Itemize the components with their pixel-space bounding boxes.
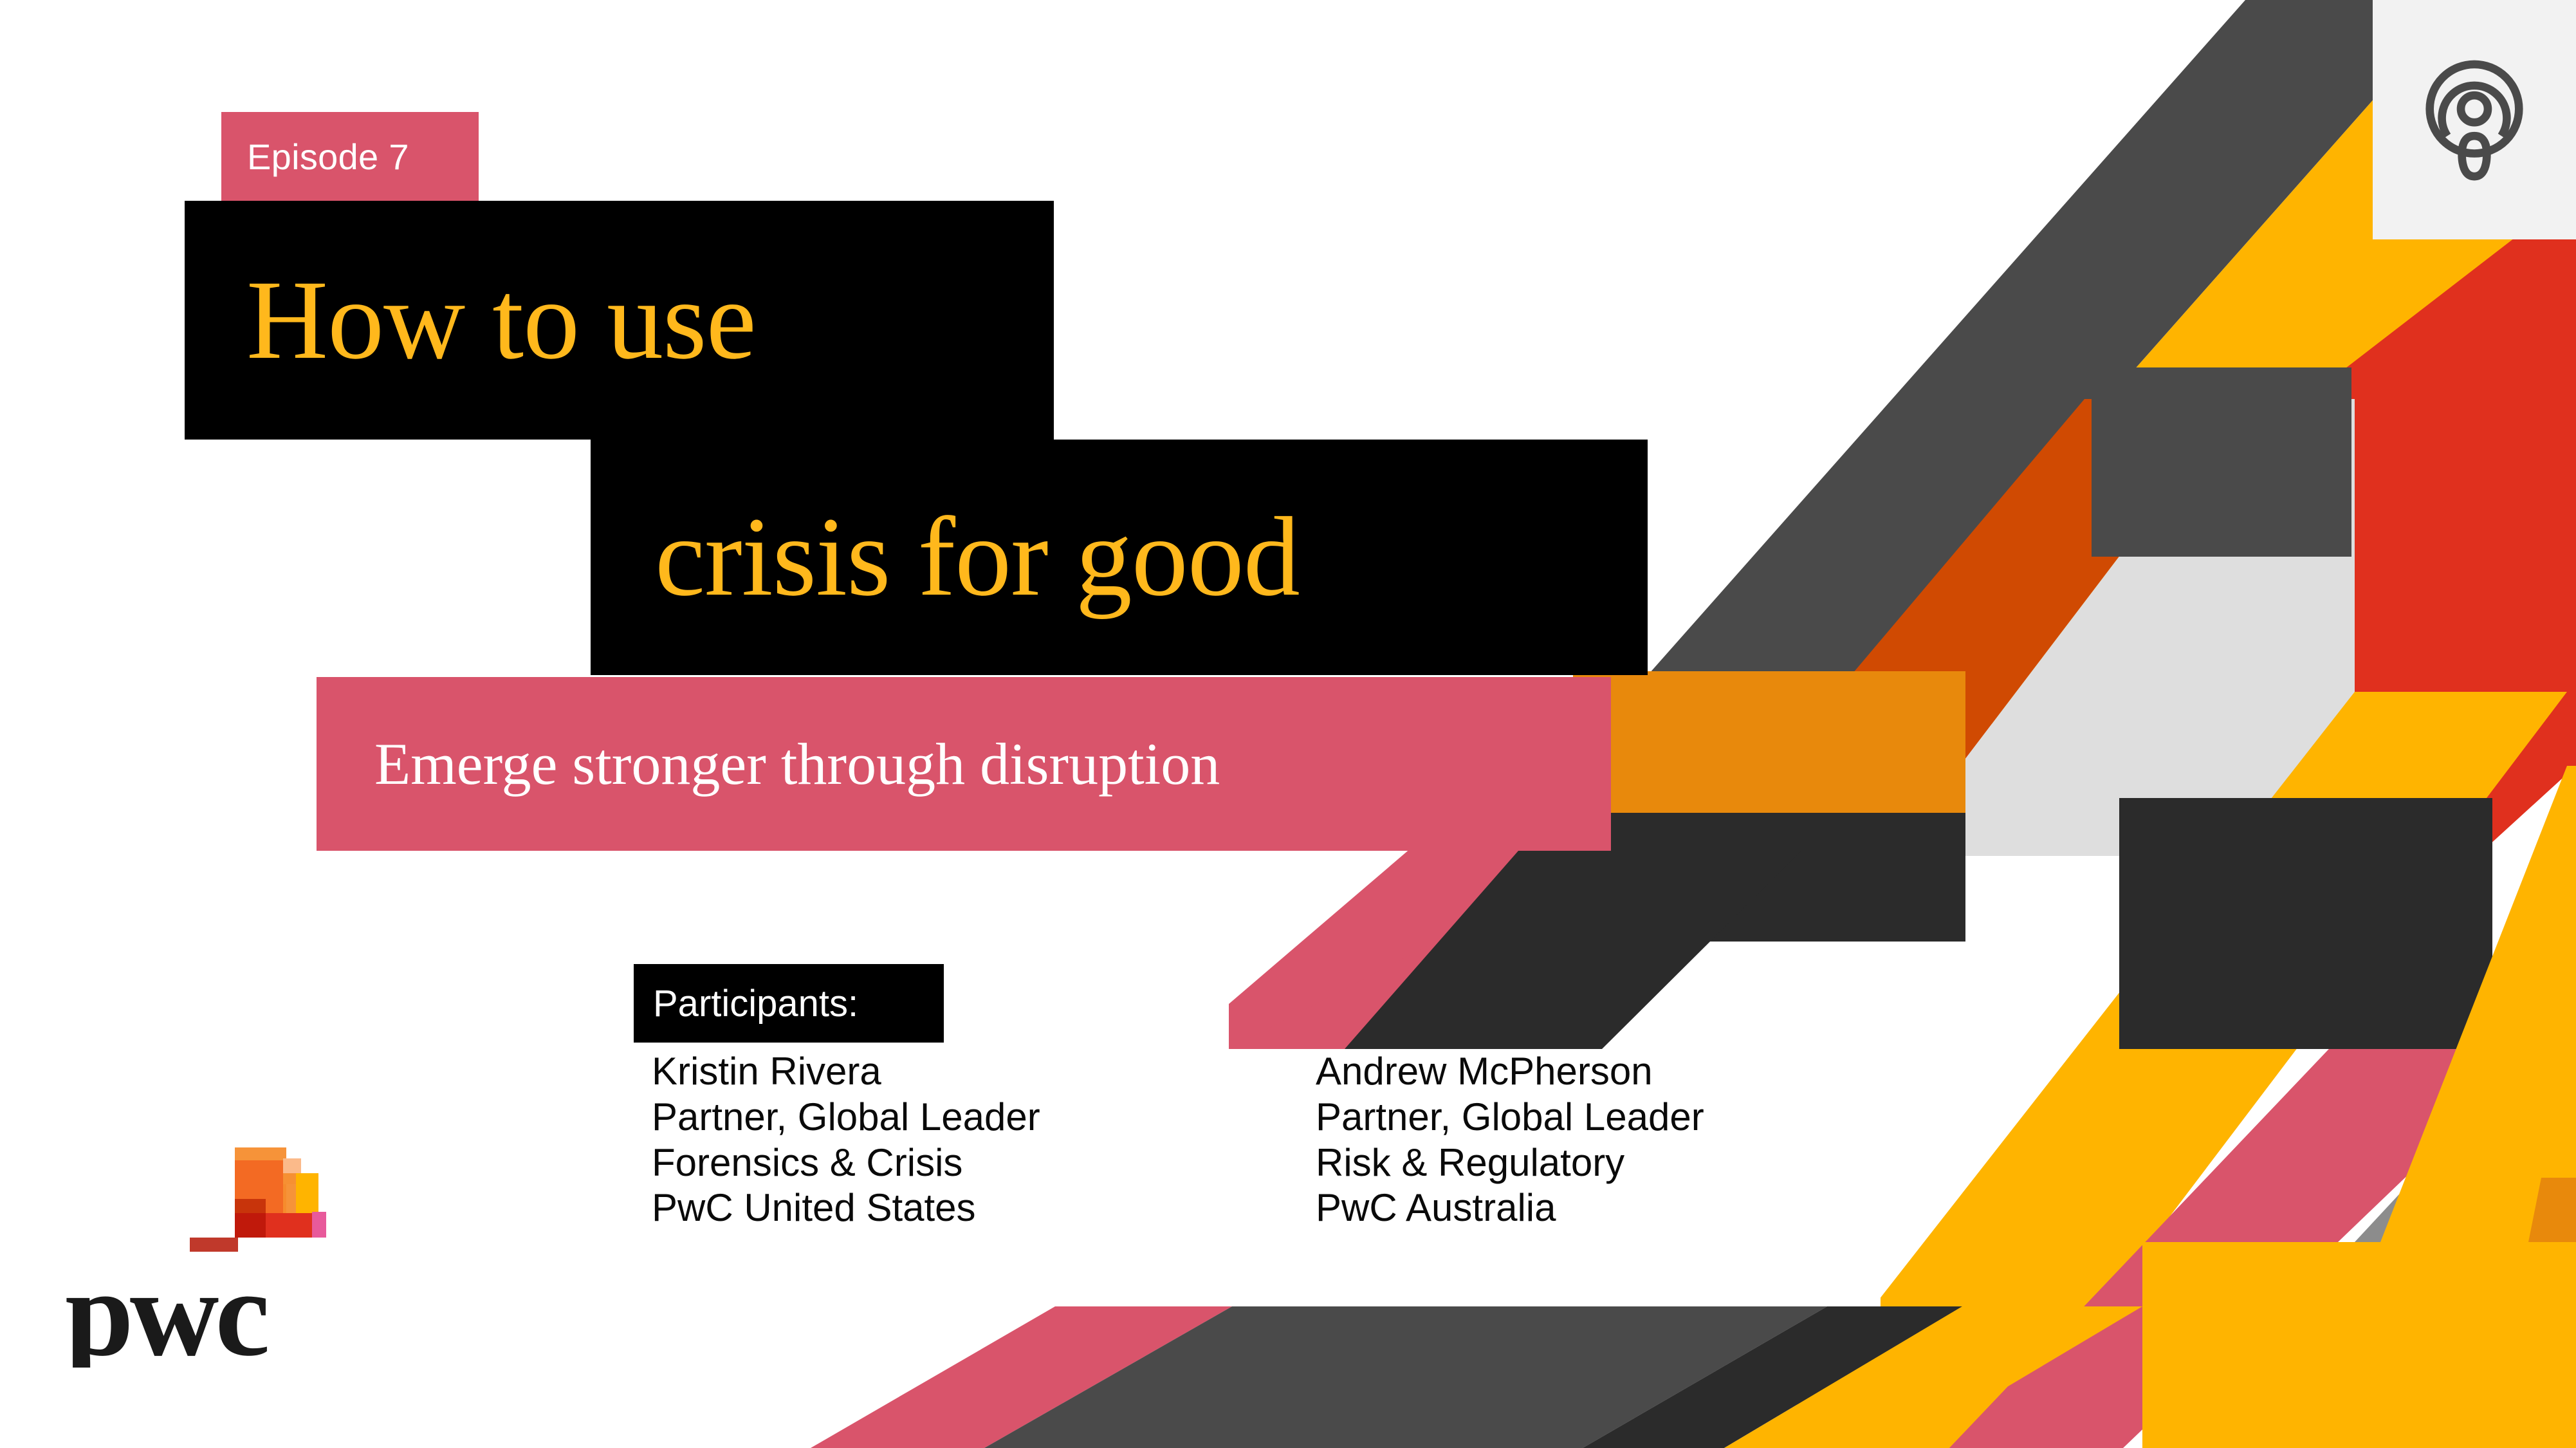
podcast-icon [2407, 52, 2542, 187]
subtitle-bar: Emerge stronger through disruption [317, 677, 1611, 851]
title-line-1: How to use [246, 264, 756, 377]
participants-heading: Participants: [653, 982, 858, 1025]
participant-territory: PwC Australia [1316, 1185, 1881, 1231]
participant-name: Kristin Rivera [652, 1049, 1316, 1095]
subtitle-text: Emerge stronger through disruption [374, 734, 1220, 794]
participant-practice: Risk & Regulatory [1316, 1140, 1881, 1186]
participant-role: Partner, Global Leader [1316, 1095, 1881, 1140]
pwc-logo-mark [190, 1147, 326, 1252]
participants-heading-badge: Participants: [634, 964, 944, 1043]
episode-label: Episode 7 [247, 136, 409, 178]
participants-panel: Kristin Rivera Partner, Global Leader Fo… [634, 1049, 1881, 1306]
shape-yellow-block-bottom-right [2142, 1242, 2576, 1448]
episode-badge: Episode 7 [221, 112, 479, 201]
title-line-2-block: crisis for good [591, 440, 1648, 675]
shape-black-square-right [2119, 798, 2492, 1049]
participant-role: Partner, Global Leader [652, 1095, 1316, 1140]
podcast-cover-slide: Episode 7 How to use crisis for good Eme… [0, 0, 2576, 1448]
title-line-2: crisis for good [655, 501, 1300, 614]
title-line-1-block: How to use [185, 201, 1054, 440]
participant-territory: PwC United States [652, 1185, 1316, 1231]
participant-practice: Forensics & Crisis [652, 1140, 1316, 1186]
pwc-logo-wordmark: pwc [65, 1245, 267, 1368]
participant-name: Andrew McPherson [1316, 1049, 1881, 1095]
pwc-logo: pwc [61, 1117, 331, 1368]
participant-entry-1: Kristin Rivera Partner, Global Leader Fo… [634, 1049, 1316, 1306]
shape-dark-gray-square [2092, 367, 2351, 557]
podcast-badge-panel [2373, 0, 2576, 239]
participant-entry-2: Andrew McPherson Partner, Global Leader … [1316, 1049, 1881, 1306]
svg-text:pwc: pwc [65, 1245, 267, 1368]
